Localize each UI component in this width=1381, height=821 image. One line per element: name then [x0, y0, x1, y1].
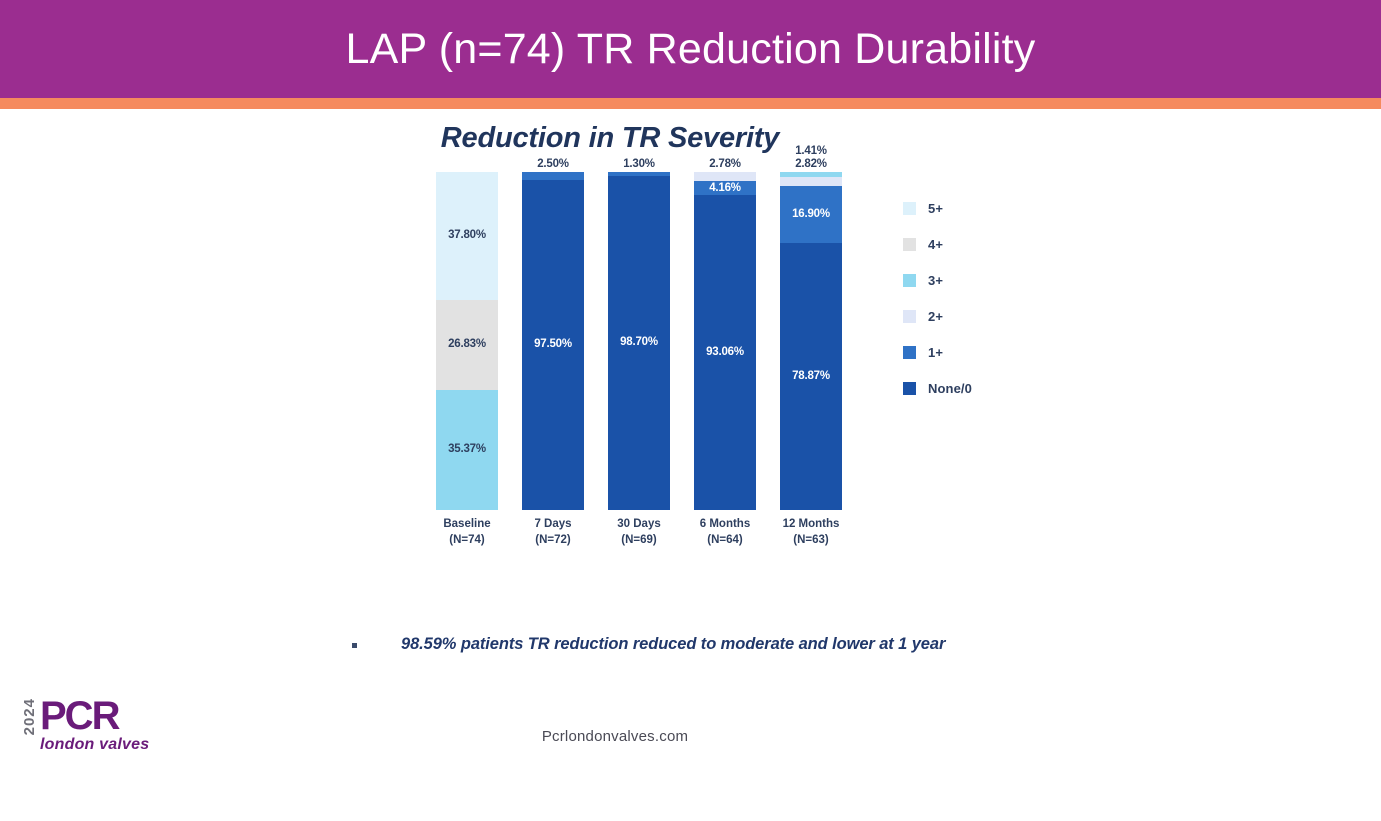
header-accent-rule — [0, 98, 1381, 109]
bar-segment: 4.16% — [694, 181, 756, 195]
legend-item[interactable]: 4+ — [903, 226, 1053, 262]
segment-value-label: 1.30% — [623, 159, 655, 171]
legend-color-swatch — [903, 382, 916, 395]
category-name: 30 Days — [617, 517, 660, 533]
legend-item-label: 3+ — [928, 273, 943, 288]
x-axis-category-label: 12 Months(N=63) — [783, 510, 840, 548]
legend-item[interactable]: 2+ — [903, 298, 1053, 334]
legend-item[interactable]: 5+ — [903, 190, 1053, 226]
chart-container: Reduction in TR Severity 37.80%26.83%35.… — [0, 112, 1381, 622]
slide-footer: 2024 PCR london valves Pcrlondonvalves.c… — [0, 690, 1381, 780]
bar-segment — [780, 177, 842, 187]
x-axis-category-label: 7 Days(N=72) — [534, 510, 571, 548]
segment-value-label: 35.37% — [448, 444, 486, 456]
bar-segment: 16.90% — [780, 186, 842, 243]
bar-column: 2.78%4.16%93.06%6 Months(N=64) — [694, 172, 756, 510]
category-sample-size: (N=74) — [443, 533, 490, 549]
bar-segment: 26.83% — [436, 300, 498, 391]
legend-color-swatch — [903, 238, 916, 251]
summary-bullet: 98.59% patients TR reduction reduced to … — [352, 635, 945, 654]
legend-color-swatch — [903, 274, 916, 287]
bar-column: 1.41%2.82%16.90%78.87%12 Months(N=63) — [780, 172, 842, 510]
legend-item-label: 1+ — [928, 345, 943, 360]
segment-value-label: 2.50% — [537, 159, 569, 171]
bar-segment: 35.37% — [436, 390, 498, 510]
segment-value-label: 1.41% — [795, 146, 827, 158]
category-name: 6 Months — [700, 517, 750, 533]
bullet-point-icon — [352, 643, 357, 648]
bar-stack: 2.78%4.16%93.06%6 Months(N=64) — [694, 172, 756, 510]
segment-value-label: 26.83% — [448, 339, 486, 351]
footer-url: Pcrlondonvalves.com — [0, 728, 1230, 745]
x-axis-category-label: 30 Days(N=69) — [617, 510, 660, 548]
legend-item-label: 5+ — [928, 201, 943, 216]
bar-stack: 2.50%97.50%7 Days(N=72) — [522, 172, 584, 510]
summary-bullet-text: 98.59% patients TR reduction reduced to … — [401, 635, 945, 654]
bar-column: 2.50%97.50%7 Days(N=72) — [522, 172, 584, 510]
bar-top-labels: 2.50% — [537, 159, 569, 173]
x-axis-category-label: 6 Months(N=64) — [700, 510, 750, 548]
bar-segment: 97.50% — [522, 180, 584, 510]
bar-stack: 37.80%26.83%35.37%Baseline(N=74) — [436, 172, 498, 510]
bar-segment: 78.87% — [780, 243, 842, 510]
legend-item[interactable]: 3+ — [903, 262, 1053, 298]
segment-value-label: 97.50% — [534, 339, 572, 351]
bar-stack: 1.30%98.70%30 Days(N=69) — [608, 172, 670, 510]
segment-value-label: 4.16% — [709, 183, 741, 195]
legend-item-label: 4+ — [928, 237, 943, 252]
segment-value-label: 93.06% — [706, 347, 744, 359]
bar-segment — [694, 172, 756, 181]
bar-column: 37.80%26.83%35.37%Baseline(N=74) — [436, 172, 498, 510]
bar-top-labels: 1.30% — [623, 159, 655, 173]
segment-value-label: 98.70% — [620, 337, 658, 349]
bar-top-labels: 1.41%2.82% — [795, 146, 827, 172]
category-name: 7 Days — [534, 517, 571, 533]
legend-item-label: None/0 — [928, 381, 972, 396]
stacked-bar-plot: 37.80%26.83%35.37%Baseline(N=74)2.50%97.… — [430, 172, 900, 562]
bar-column: 1.30%98.70%30 Days(N=69) — [608, 172, 670, 510]
category-name: 12 Months — [783, 517, 840, 533]
slide-header: LAP (n=74) TR Reduction Durability — [0, 0, 1381, 98]
chart-legend: 5+4+3+2+1+None/0 — [903, 190, 1053, 406]
legend-item[interactable]: None/0 — [903, 370, 1053, 406]
segment-value-label: 2.82% — [795, 159, 827, 171]
bar-segment: 98.70% — [608, 176, 670, 510]
legend-color-swatch — [903, 310, 916, 323]
segment-value-label: 78.87% — [792, 371, 830, 383]
legend-color-swatch — [903, 346, 916, 359]
segment-value-label: 37.80% — [448, 230, 486, 242]
category-sample-size: (N=69) — [617, 533, 660, 549]
legend-color-swatch — [903, 202, 916, 215]
bar-stack: 1.41%2.82%16.90%78.87%12 Months(N=63) — [780, 172, 842, 510]
segment-value-label: 16.90% — [792, 209, 830, 221]
bar-segment: 93.06% — [694, 195, 756, 510]
legend-item-label: 2+ — [928, 309, 943, 324]
category-sample-size: (N=72) — [534, 533, 571, 549]
legend-item[interactable]: 1+ — [903, 334, 1053, 370]
x-axis-category-label: Baseline(N=74) — [443, 510, 490, 548]
category-name: Baseline — [443, 517, 490, 533]
category-sample-size: (N=64) — [700, 533, 750, 549]
bar-segment — [522, 172, 584, 180]
page-title: LAP (n=74) TR Reduction Durability — [346, 28, 1036, 71]
segment-value-label: 2.78% — [709, 159, 741, 171]
category-sample-size: (N=63) — [783, 533, 840, 549]
chart-title: Reduction in TR Severity — [0, 122, 1220, 155]
bar-top-labels: 2.78% — [709, 159, 741, 173]
bar-segment: 37.80% — [436, 172, 498, 300]
